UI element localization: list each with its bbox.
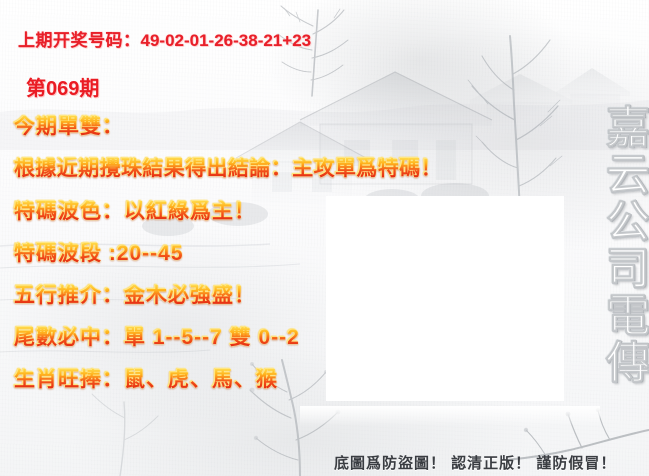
line-odd-even-title: 今期單雙：	[14, 116, 124, 137]
line-conclusion: 根據近期攪珠結果得出結論：主攻單爲特碼！	[14, 158, 442, 179]
line-tail-numbers: 尾數必中：單 1--5--7 雙 0--2	[14, 327, 300, 348]
anti-piracy-notice: 底圖爲防盜圖！ 認清正版！ 謹防假冒！	[334, 452, 616, 473]
line-five-elements: 五行推介：金木必強盛！	[14, 285, 256, 306]
company-vertical-title: 嘉云公司電傳	[577, 104, 645, 386]
last-draw-label: 上期开奖号码：	[18, 31, 141, 50]
last-draw-header: 上期开奖号码：49-02-01-26-38-21+23	[18, 26, 311, 51]
white-fade-panel	[300, 406, 600, 426]
white-content-panel	[326, 196, 564, 401]
lottery-poster: 上期开奖号码：49-02-01-26-38-21+23 第069期 今期單雙： …	[0, 0, 649, 476]
line-zodiac: 生肖旺捧：鼠、虎、馬、猴	[14, 369, 278, 390]
line-wave-range: 特碼波段 :20--45	[14, 243, 184, 264]
last-draw-numbers: 49-02-01-26-38-21+23	[141, 31, 312, 50]
line-wave-color: 特碼波色：以紅綠爲主！	[14, 201, 256, 222]
period-label: 第069期	[26, 72, 99, 101]
